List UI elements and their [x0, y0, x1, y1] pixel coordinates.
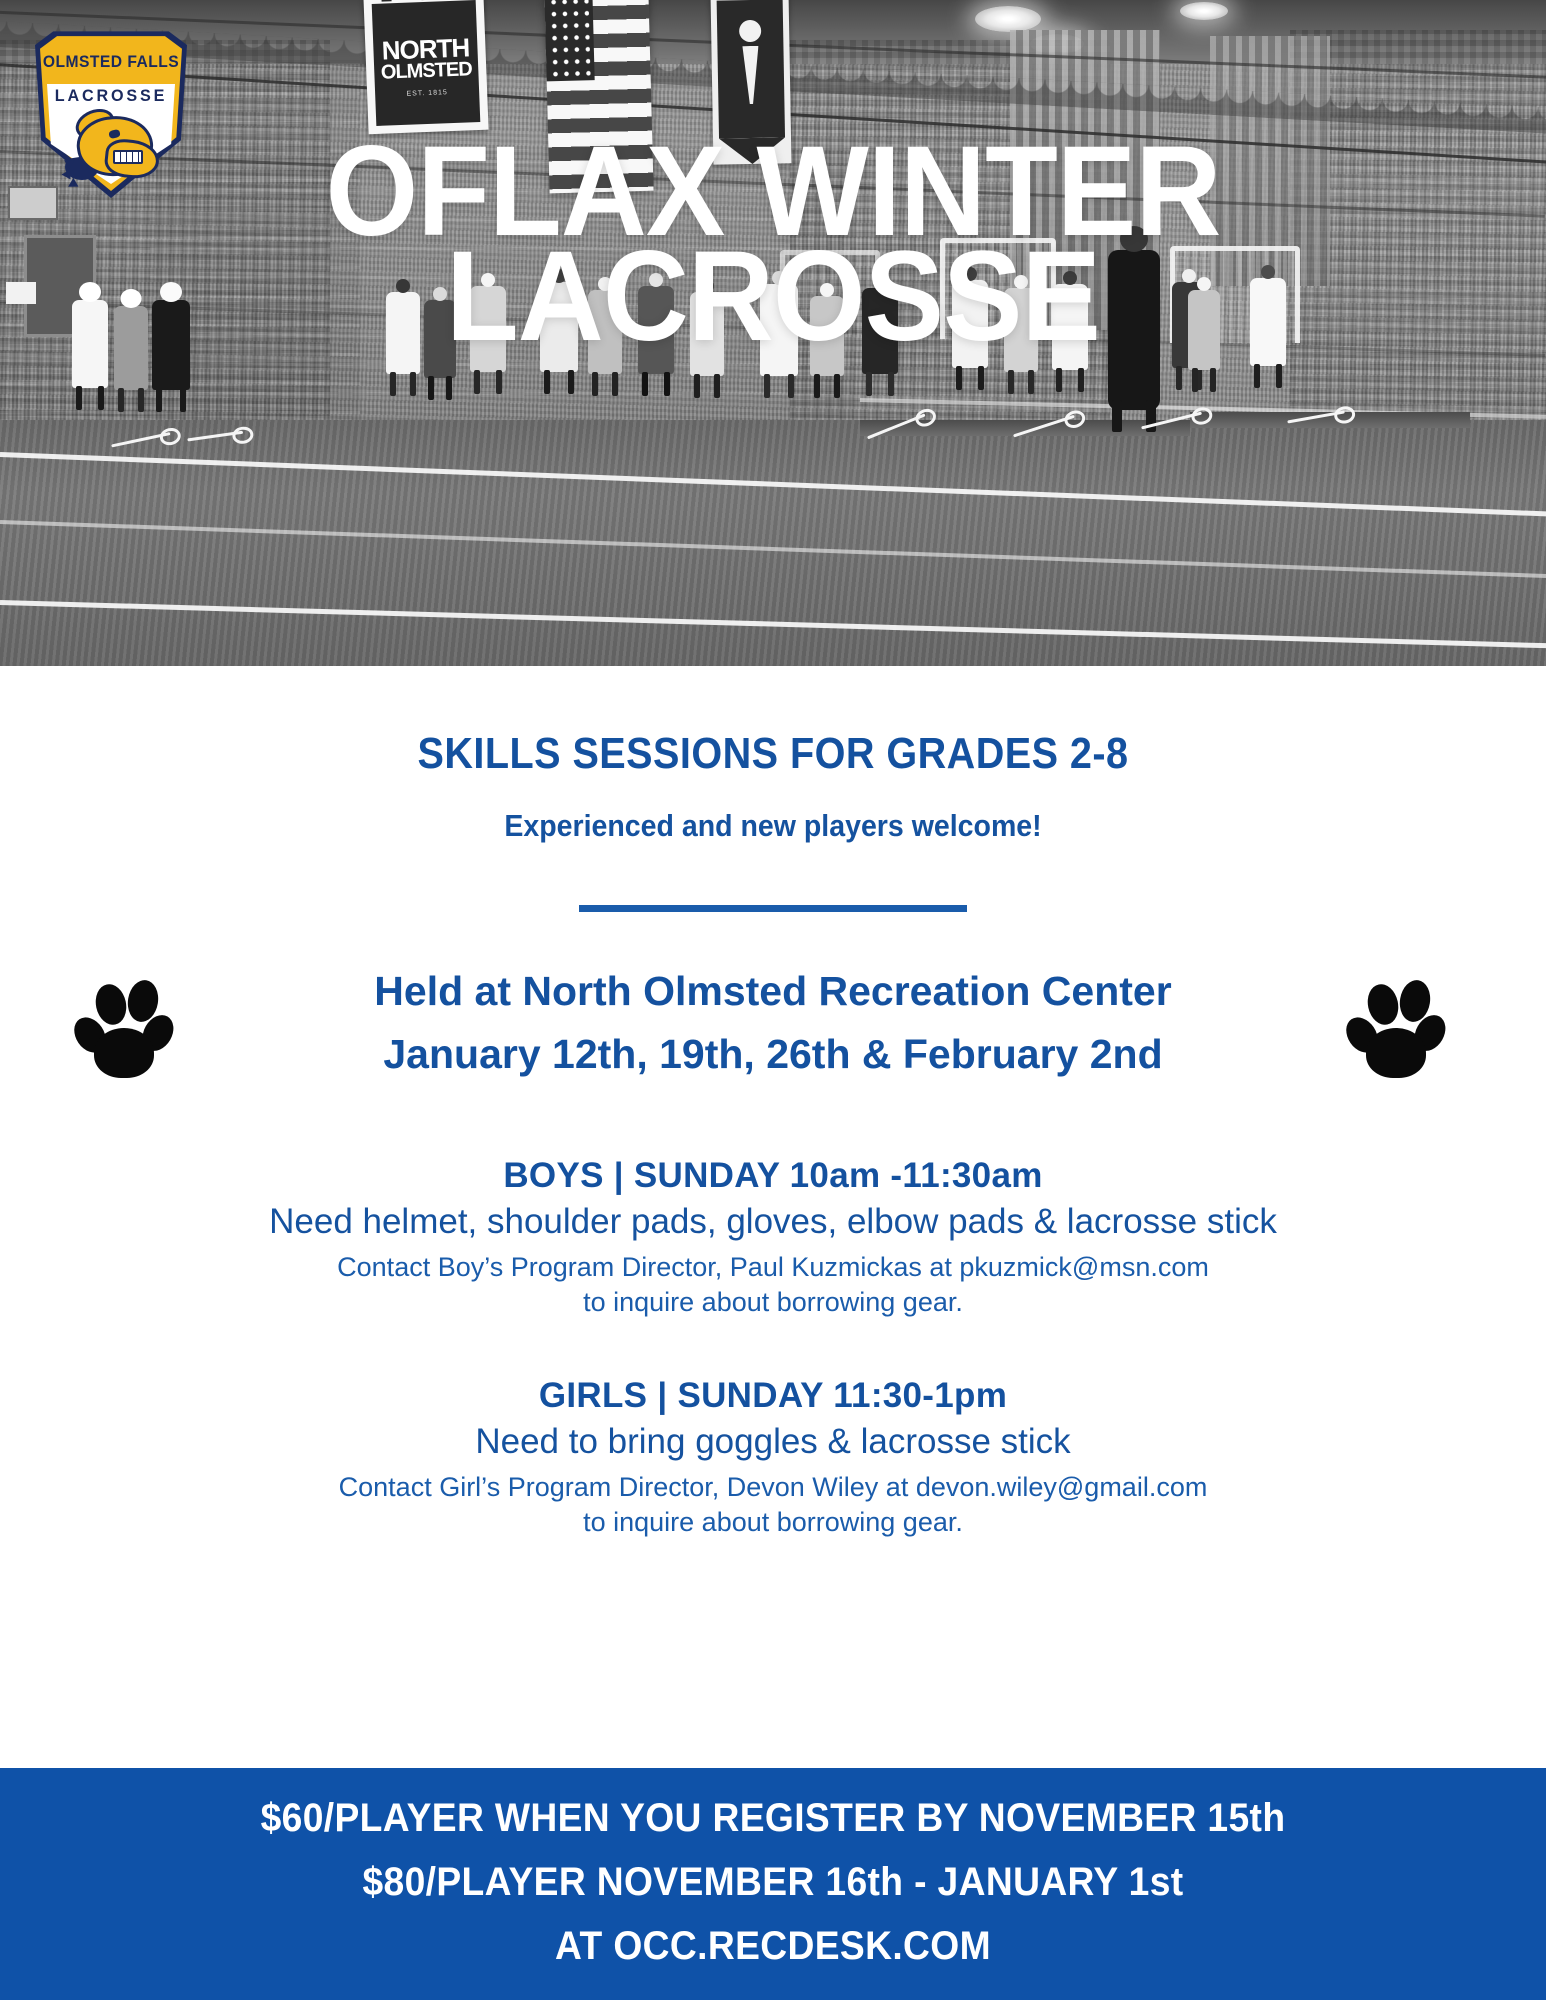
player-leg — [956, 366, 962, 390]
player-leg — [664, 372, 670, 396]
player-leg — [1078, 368, 1084, 392]
player-leg — [98, 386, 104, 410]
player-leg — [1192, 368, 1198, 392]
coach-leg — [1112, 400, 1122, 432]
hero-photo: NORTH OLMSTED EST. 1815 — [0, 0, 1546, 666]
session-group-boys: BOYS | SUNDAY 10am -11:30am Need helmet,… — [0, 1156, 1546, 1319]
kicker-headline: SKILLS SESSIONS FOR GRADES 2-8 — [77, 729, 1468, 779]
girls-contact-line1: Contact Girl’s Program Director, Devon W… — [0, 1470, 1546, 1505]
flag-union — [544, 0, 594, 81]
divider-rule — [579, 905, 967, 912]
title-line-2: LACROSSE — [54, 245, 1492, 350]
player-leg — [642, 372, 648, 396]
banner-line2: OLMSTED — [366, 58, 487, 86]
player-leg — [156, 388, 162, 412]
boys-contact-line2: to inquire about borrowing gear. — [0, 1285, 1546, 1320]
player-leg — [390, 372, 396, 396]
venue-dates: January 12th, 19th, 26th & February 2nd — [0, 1031, 1546, 1078]
boys-session-heading: BOYS | SUNDAY 10am -11:30am — [0, 1156, 1546, 1196]
player-leg — [1210, 368, 1216, 392]
player-leg — [612, 372, 618, 396]
player-leg — [592, 372, 598, 396]
player-leg — [1276, 364, 1282, 388]
player-leg — [410, 372, 416, 396]
player-leg — [138, 388, 144, 412]
north-olmsted-banner: NORTH OLMSTED EST. 1815 — [363, 0, 488, 134]
player-leg — [474, 370, 480, 394]
player-leg — [1056, 368, 1062, 392]
venue-location: Held at North Olmsted Recreation Center — [0, 968, 1546, 1015]
footer-registration-url[interactable]: AT OCC.RECDESK.COM — [54, 1924, 1492, 1969]
player-leg — [496, 370, 502, 394]
player-leg — [764, 374, 770, 398]
pricing-footer: $60/PLAYER WHEN YOU REGISTER BY NOVEMBER… — [0, 1768, 1546, 2000]
footer-price-regular: $80/PLAYER NOVEMBER 16th - JANUARY 1st — [54, 1860, 1492, 1905]
player-leg — [1176, 366, 1182, 390]
footer-price-early: $60/PLAYER WHEN YOU REGISTER BY NOVEMBER… — [54, 1796, 1492, 1841]
subtitle: Experienced and new players welcome! — [62, 808, 1484, 844]
girls-session-heading: GIRLS | SUNDAY 11:30-1pm — [0, 1376, 1546, 1416]
player-leg — [1028, 370, 1034, 394]
turf-field — [0, 420, 1546, 666]
boys-contact-line1: Contact Boy’s Program Director, Paul Kuz… — [0, 1250, 1546, 1285]
player-leg — [834, 374, 840, 398]
player-leg — [118, 388, 124, 412]
player-leg — [76, 386, 82, 410]
page-title: OFLAX WINTER LACROSSE — [54, 140, 1492, 350]
main-content: SKILLS SESSIONS FOR GRADES 2-8 Experienc… — [0, 666, 1546, 1768]
wall-sign — [6, 282, 36, 304]
player-leg — [978, 366, 984, 390]
player-leg — [814, 374, 820, 398]
player-leg — [428, 376, 434, 400]
girls-gear-text: Need to bring goggles & lacrosse stick — [0, 1422, 1546, 1462]
player-leg — [1254, 364, 1260, 388]
player-leg — [888, 372, 894, 396]
player-leg — [866, 372, 872, 396]
player-leg — [1008, 370, 1014, 394]
girls-contact-line2: to inquire about borrowing gear. — [0, 1505, 1546, 1540]
boys-gear-text: Need helmet, shoulder pads, gloves, elbo… — [0, 1202, 1546, 1242]
player-leg — [180, 388, 186, 412]
player-leg — [568, 370, 574, 394]
logo-bottom-text: LACROSSE — [39, 86, 183, 106]
player-leg — [788, 374, 794, 398]
session-group-girls: GIRLS | SUNDAY 11:30-1pm Need to bring g… — [0, 1376, 1546, 1539]
player-leg — [714, 374, 720, 398]
flyer-page: NORTH OLMSTED EST. 1815 — [0, 0, 1546, 2000]
ceiling-light-icon — [975, 6, 1041, 32]
player-leg — [544, 370, 550, 394]
player-leg — [446, 376, 452, 400]
banner-tower-shape — [381, 0, 392, 2]
ceiling-light-icon — [1180, 2, 1228, 20]
player-leg — [694, 374, 700, 398]
logo-top-text: OLMSTED FALLS — [41, 52, 181, 72]
